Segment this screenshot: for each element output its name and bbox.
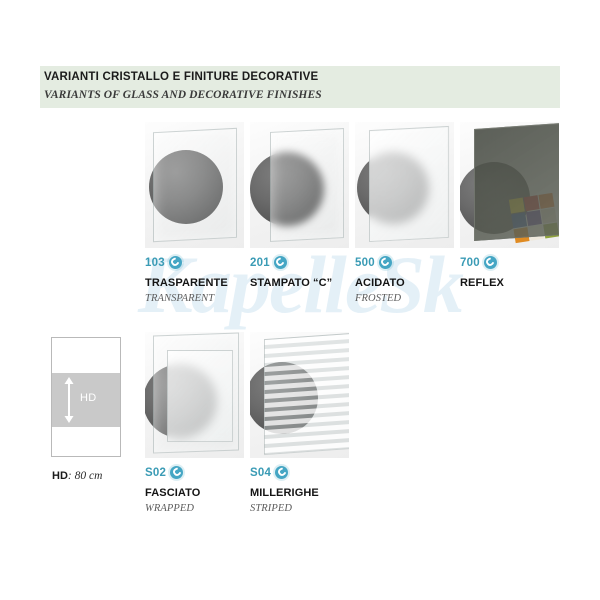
finish-code-line-103: 103 (145, 256, 182, 269)
page-subtitle: VARIANTS OF GLASS AND DECORATIVE FINISHE… (44, 89, 322, 101)
finish-image-103 (145, 122, 244, 248)
finish-card-700[interactable]: 700 REFLEX (460, 122, 590, 307)
finish-code-line-S02: S02 (145, 466, 183, 479)
finish-name-it: REFLEX (460, 277, 504, 289)
hd-double-arrow-icon (63, 377, 75, 423)
refresh-circle-icon (170, 466, 183, 479)
finish-code-line-S04: S04 (250, 466, 288, 479)
hd-caption: HD: 80 cm (52, 470, 102, 482)
finish-card-S04[interactable]: S04 MILLERIGHE STRIPED (250, 332, 380, 517)
page-title: VARIANTI CRISTALLO E FINITURE DECORATIVE (44, 71, 318, 83)
finish-code: 700 (460, 257, 480, 269)
finish-name-it: ACIDATO (355, 277, 405, 289)
finish-name-it: FASCIATO (145, 487, 200, 499)
finish-name-en: STRIPED (250, 503, 292, 514)
finish-code: 500 (355, 257, 375, 269)
hd-diagram: HD (51, 337, 121, 457)
finish-name-en: WRAPPED (145, 503, 194, 514)
finish-image-S04 (250, 332, 349, 458)
finish-code: 201 (250, 257, 270, 269)
finish-image-700 (460, 122, 559, 248)
hd-caption-bold: HD (52, 470, 68, 482)
finish-name-en: FROSTED (355, 293, 401, 304)
refresh-circle-icon (379, 256, 392, 269)
hd-caption-value: : 80 cm (68, 470, 103, 482)
finish-name-it: STAMPATO “C” (250, 277, 332, 289)
refresh-circle-icon (484, 256, 497, 269)
finish-image-500 (355, 122, 454, 248)
finish-code: 103 (145, 257, 165, 269)
finish-code: S04 (250, 467, 271, 479)
finish-code-line-201: 201 (250, 256, 287, 269)
finish-name-it: TRASPARENTE (145, 277, 228, 289)
finish-name-it: MILLERIGHE (250, 487, 319, 499)
finish-image-S02 (145, 332, 244, 458)
hd-band-label: HD (80, 392, 97, 404)
finish-name-en: TRANSPARENT (145, 293, 214, 304)
refresh-circle-icon (169, 256, 182, 269)
refresh-circle-icon (274, 256, 287, 269)
refresh-circle-icon (275, 466, 288, 479)
finish-code-line-700: 700 (460, 256, 497, 269)
finish-image-201 (250, 122, 349, 248)
finish-code-line-500: 500 (355, 256, 392, 269)
finish-code: S02 (145, 467, 166, 479)
